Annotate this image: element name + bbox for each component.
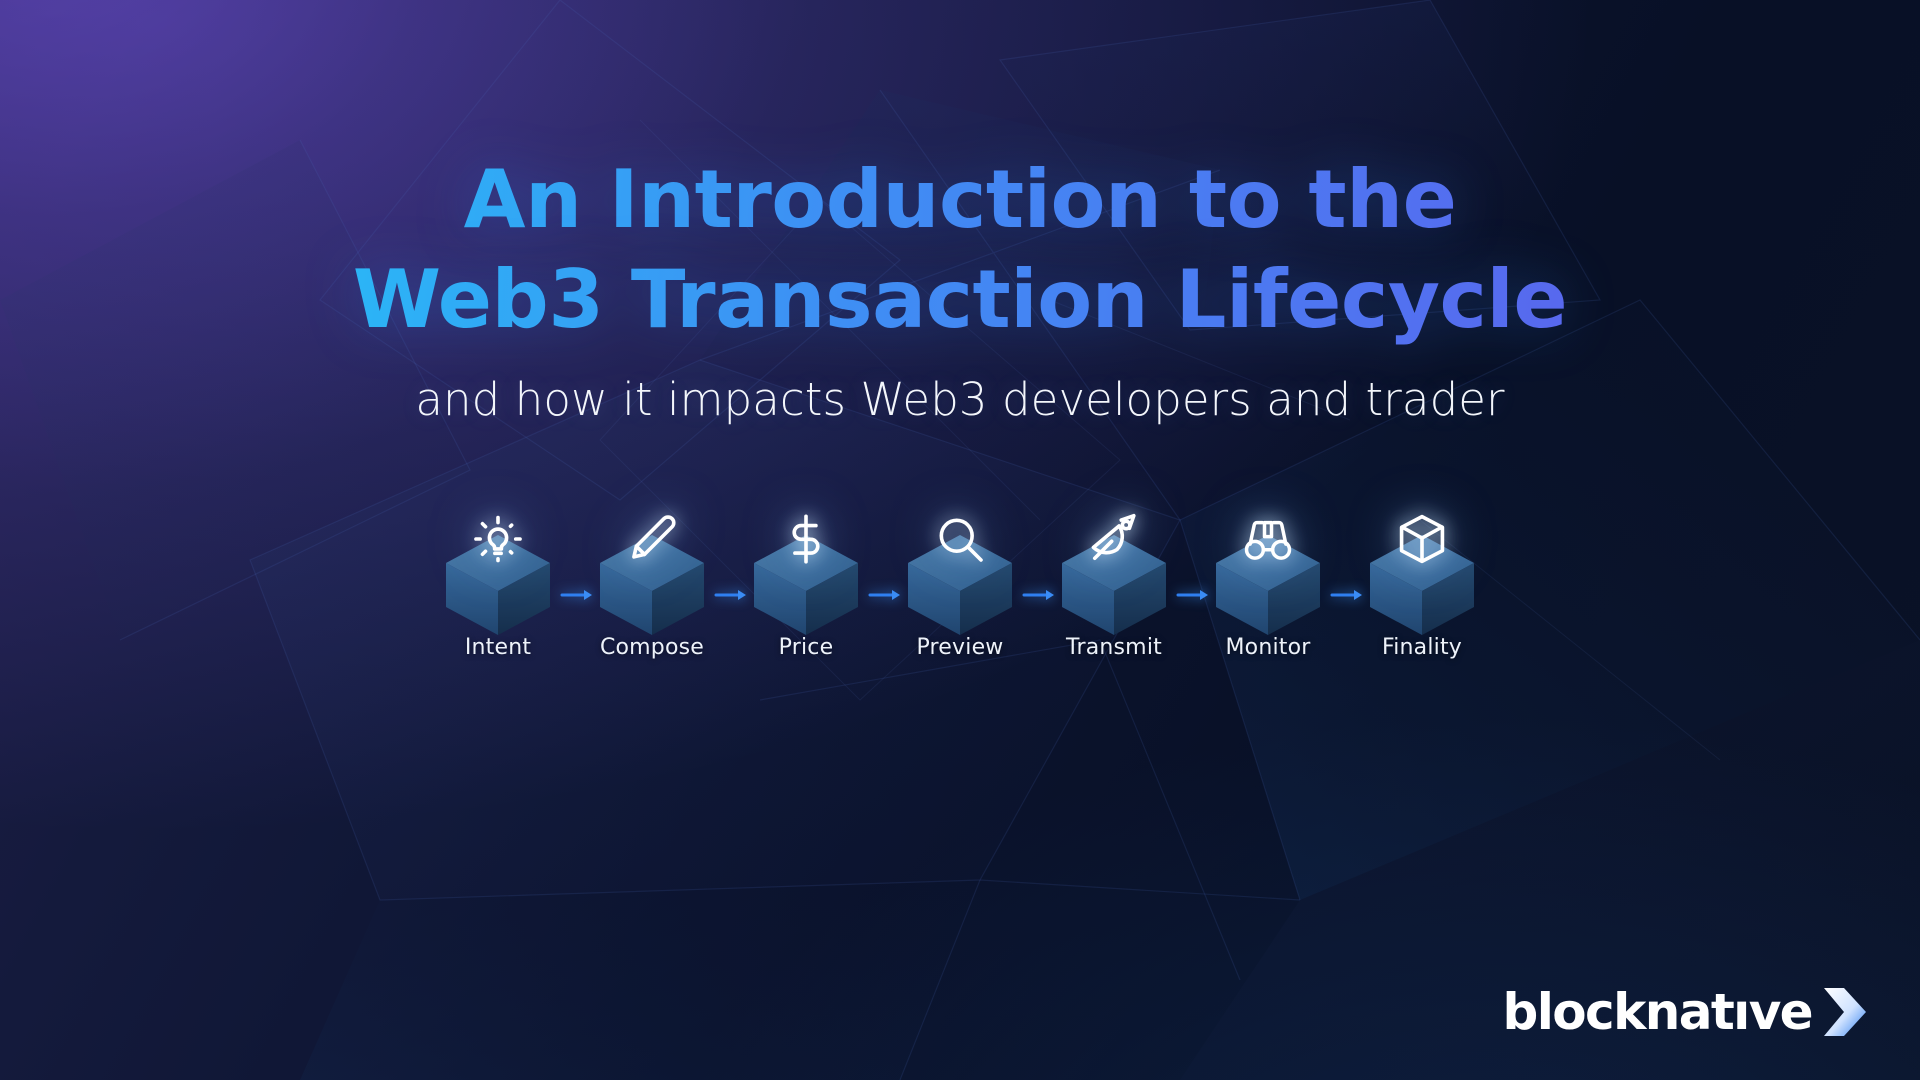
cube-price — [744, 495, 868, 619]
pipeline-step-intent[interactable]: Intent — [421, 495, 575, 660]
step-label: Intent — [465, 635, 531, 660]
pipeline-step-monitor[interactable]: Monitor — [1191, 495, 1345, 660]
logo-wordmark: blocknatıve — [1503, 987, 1812, 1037]
pipeline-arrow — [868, 587, 904, 603]
cube-transmit — [1052, 495, 1176, 619]
title-line-1: An Introduction to the — [0, 148, 1920, 252]
step-label: Preview — [916, 635, 1003, 660]
pipeline-arrow — [1330, 587, 1366, 603]
pipeline-arrow — [1022, 587, 1058, 603]
binoculars-icon — [1240, 511, 1296, 567]
pipeline-arrow — [1176, 587, 1212, 603]
pipeline-arrow — [560, 587, 596, 603]
step-label: Finality — [1382, 635, 1462, 660]
pipeline-step-price[interactable]: Price — [729, 495, 883, 660]
pipeline-step-finality[interactable]: Finality — [1345, 495, 1499, 660]
cube-intent — [436, 495, 560, 619]
satellite-dish-icon — [1086, 511, 1142, 567]
blocknative-diamond-icon — [1822, 986, 1868, 1038]
lightbulb-icon — [470, 511, 526, 567]
step-label: Monitor — [1225, 635, 1310, 660]
dollar-icon — [778, 511, 834, 567]
cube-compose — [590, 495, 714, 619]
pipeline-step-compose[interactable]: Compose — [575, 495, 729, 660]
step-label: Compose — [600, 635, 704, 660]
cube-monitor — [1206, 495, 1330, 619]
cube-finality — [1360, 495, 1484, 619]
cube-preview — [898, 495, 1022, 619]
title-line-2: Web3 Transaction Lifecycle — [0, 248, 1920, 352]
step-label: Price — [779, 635, 834, 660]
pipeline-arrow — [714, 587, 750, 603]
pipeline-step-preview[interactable]: Preview — [883, 495, 1037, 660]
step-label: Transmit — [1066, 635, 1162, 660]
cube-icon — [1394, 511, 1450, 567]
magnifier-icon — [932, 511, 988, 567]
page-title: An Introduction to the Web3 Transaction … — [0, 148, 1920, 352]
transaction-lifecycle-pipeline: Intent Compose — [248, 495, 1672, 710]
blocknative-logo[interactable]: blocknatıve — [1503, 986, 1868, 1038]
slide-canvas: An Introduction to the Web3 Transaction … — [0, 0, 1920, 1080]
page-subtitle: and how it impacts Web3 developers and t… — [0, 373, 1920, 426]
pipeline-step-transmit[interactable]: Transmit — [1037, 495, 1191, 660]
pencil-icon — [624, 511, 680, 567]
